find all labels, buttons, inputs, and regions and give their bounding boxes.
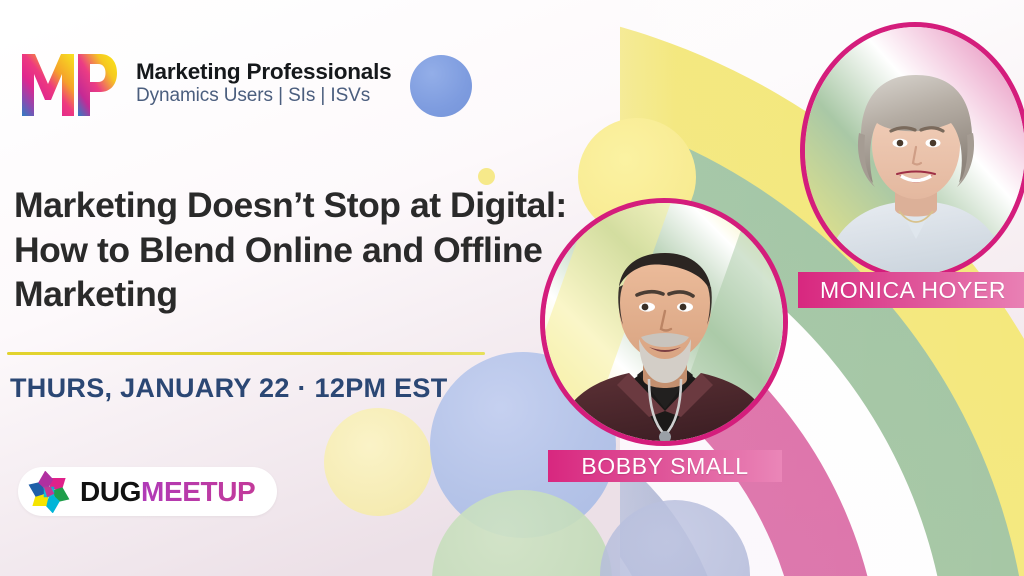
dug-pinwheel-icon — [28, 471, 70, 513]
speaker-photo-monica-hoyer — [800, 22, 1024, 280]
speaker-photo-bobby-small — [540, 198, 788, 446]
dug-meetup-logo[interactable]: DUGMEETUP — [18, 467, 277, 516]
pale-yellow-circle-decor — [324, 408, 432, 516]
promo-banner: Marketing Professionals Dynamics Users |… — [0, 0, 1024, 576]
dug-wordmark-secondary: MEETUP — [141, 476, 255, 507]
brand-subtitle: Dynamics Users | SIs | ISVs — [136, 86, 391, 106]
periwinkle-circle-decor — [410, 55, 472, 117]
divider — [7, 352, 485, 355]
avatar — [545, 203, 783, 441]
mp-monogram-icon — [18, 46, 120, 118]
brand-lockup: Marketing Professionals Dynamics Users |… — [18, 46, 391, 118]
page-title: Marketing Doesn’t Stop at Digital: How t… — [14, 183, 570, 317]
speaker-nameplate-bobby-small: BOBBY SMALL — [548, 450, 782, 482]
brand-title: Marketing Professionals — [136, 59, 391, 84]
avatar — [805, 27, 1024, 275]
dug-wordmark-primary: DUG — [80, 476, 141, 507]
speaker-nameplate-monica-hoyer: MONICA HOYER — [798, 272, 1024, 308]
event-datetime: THURS, JANUARY 22 · 12PM EST — [10, 373, 448, 404]
